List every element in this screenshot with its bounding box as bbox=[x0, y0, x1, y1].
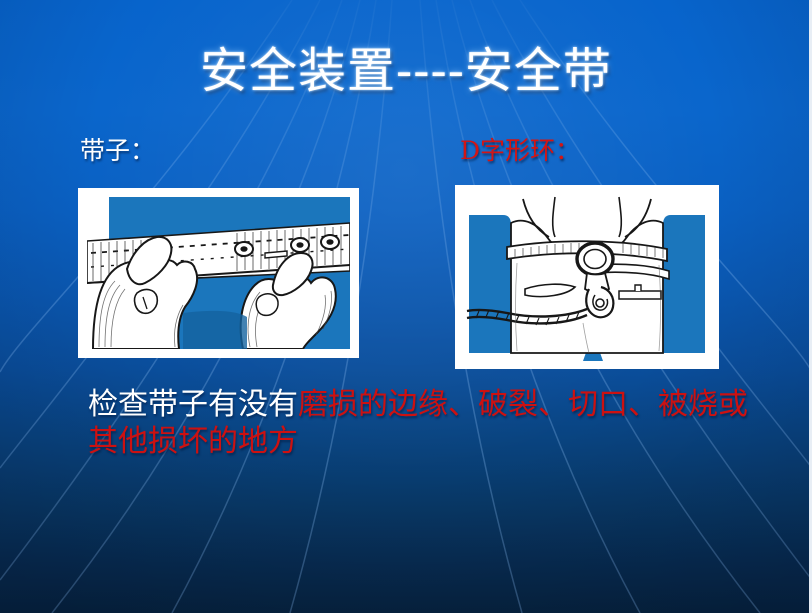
figure-webbing-inspection bbox=[78, 188, 359, 358]
presentation-slide: 安全装置----安全带 带子： D字形环： bbox=[0, 0, 812, 613]
figure-label-webbing: 带子： bbox=[80, 136, 155, 166]
slide-title: 安全装置----安全带 bbox=[0, 42, 812, 100]
figure-d-ring bbox=[455, 185, 719, 369]
figure-label-d-ring: D字形环： bbox=[460, 136, 580, 166]
slide-body-paragraph: 检查带子有没有磨损的边缘、破裂、切口、被烧或其他损坏的地方 bbox=[88, 386, 758, 460]
body-text-lead: 检查带子有没有 bbox=[88, 387, 298, 422]
